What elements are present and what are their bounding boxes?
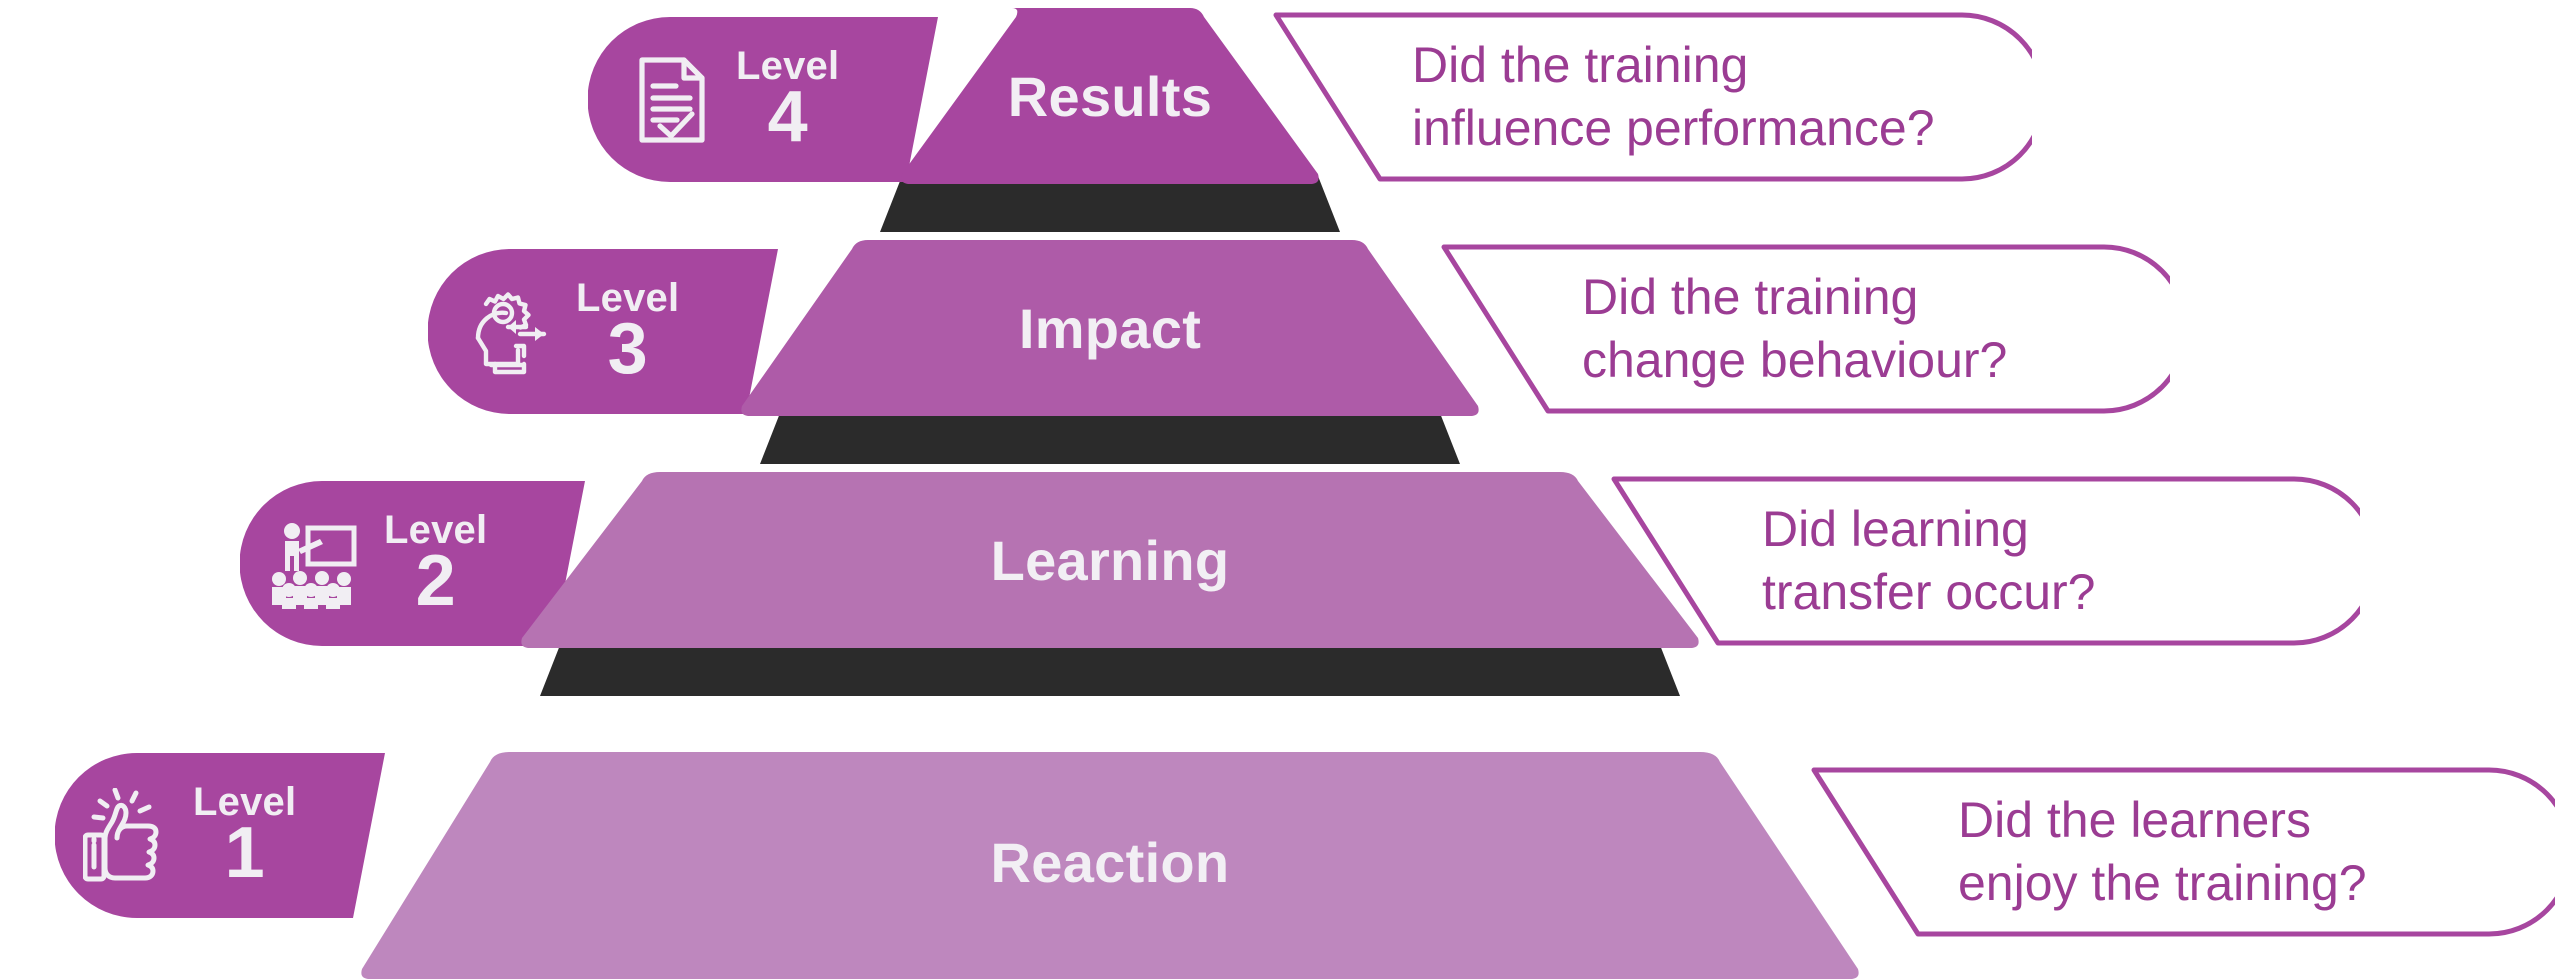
tier-label-level-3: Impact (1019, 296, 1201, 361)
level-badge-3-text: Level 3 (576, 279, 705, 383)
tier-label-level-1: Reaction (991, 830, 1230, 895)
pyramid-tier-level-2[interactable]: Learning (520, 472, 1700, 648)
head-gear-exchange-icon (462, 284, 558, 380)
instructor-whiteboard-audience-icon (270, 516, 366, 612)
level-number-1: 1 (225, 819, 265, 887)
callout-line: change behaviour? (1582, 329, 2007, 392)
pyramid-tier-level-3[interactable]: Impact (740, 240, 1480, 416)
callout-text-level-3: Did the training change behaviour? (1582, 266, 2007, 392)
callout-line: enjoy the training? (1958, 852, 2367, 915)
tier-label-level-2: Learning (991, 528, 1230, 593)
level-number-4: 4 (768, 83, 808, 151)
level-badge-2-text: Level 2 (384, 511, 513, 615)
callout-line: Did learning (1762, 498, 2095, 561)
level-badge-1-text: Level 1 (193, 783, 322, 887)
level-number-3: 3 (608, 315, 648, 383)
pyramid-row-level-1: Level 1 Reaction Did the learners enjoy … (0, 696, 2555, 979)
pyramid-diagram: Level 4 Results Did the training influen… (0, 0, 2555, 979)
level-badge-3[interactable]: Level 3 (428, 249, 778, 414)
pyramid-tier-level-1[interactable]: Reaction (360, 752, 1860, 979)
pyramid-row-level-4: Level 4 Results Did the training influen… (0, 0, 2555, 230)
level-badge-4[interactable]: Level 4 (588, 17, 938, 182)
callout-level-2[interactable]: Did learning transfer occur? (1600, 475, 2360, 647)
tier-shadow-level-3 (760, 408, 1460, 464)
callout-text-level-1: Did the learners enjoy the training? (1958, 789, 2367, 915)
callout-text-level-4: Did the training influence performance? (1412, 34, 1935, 160)
pyramid-tier-level-4[interactable]: Results (900, 8, 1320, 184)
callout-line: Did the training (1582, 266, 2007, 329)
callout-level-1[interactable]: Did the learners enjoy the training? (1800, 766, 2555, 938)
level-badge-4-text: Level 4 (736, 47, 865, 151)
level-badge-1[interactable]: Level 1 (55, 753, 385, 918)
callout-line: Did the training (1412, 34, 1935, 97)
callout-level-4[interactable]: Did the training influence performance? (1262, 11, 2032, 183)
level-number-2: 2 (416, 547, 456, 615)
callout-line: transfer occur? (1762, 561, 2095, 624)
tier-shadow-level-4 (880, 176, 1340, 232)
callout-text-level-2: Did learning transfer occur? (1762, 498, 2095, 624)
document-checklist-icon (622, 52, 718, 148)
callout-line: Did the learners (1958, 789, 2367, 852)
tier-shadow-level-2 (540, 640, 1680, 696)
callout-level-3[interactable]: Did the training change behaviour? (1430, 243, 2170, 415)
pyramid-row-level-2: Level 2 Learning Did learning transfer o… (0, 464, 2555, 694)
pyramid-row-level-3: Level 3 Impact Did the training change b… (0, 232, 2555, 462)
thumbs-up-icon (83, 788, 179, 884)
tier-label-level-4: Results (1008, 64, 1212, 129)
callout-line: influence performance? (1412, 97, 1935, 160)
